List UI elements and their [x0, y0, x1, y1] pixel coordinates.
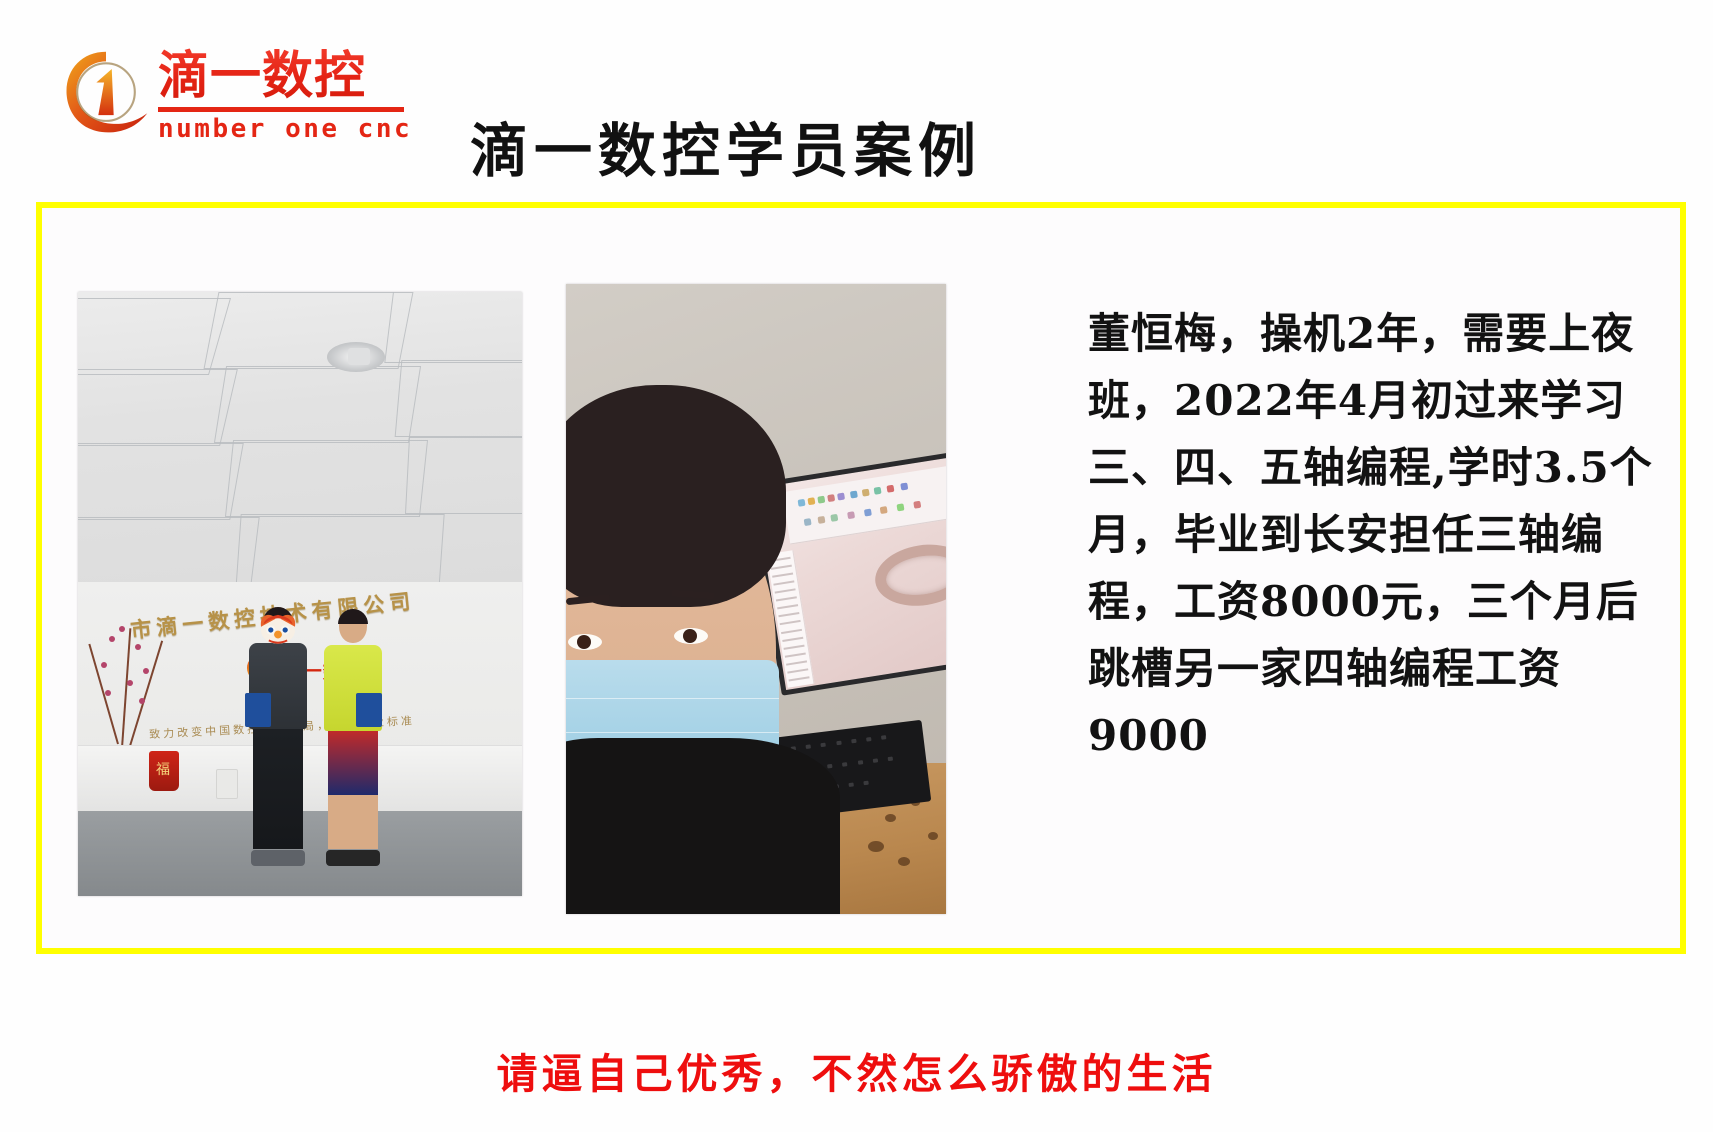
slide-root: 滴一数控 number one cnc 滴一数控学员案例 毕业照 工作照 市滴一… [0, 0, 1713, 1132]
decor-plant [91, 618, 169, 748]
small-vase [216, 769, 238, 799]
red-vase [149, 751, 179, 791]
page-title: 滴一数控学员案例 [470, 104, 1170, 188]
brand-name-en: number one cnc [158, 114, 404, 144]
brand-wordmark: 滴一数控 number one cnc [158, 48, 404, 144]
student-torso [566, 738, 840, 914]
ceiling-light-icon [327, 342, 385, 372]
ceiling [78, 292, 522, 588]
droplet-one-circle-icon [58, 46, 154, 142]
lion-mask-sticker-icon [258, 611, 298, 645]
student-figure-left [247, 607, 309, 866]
testimonial-text: 董恒梅，操机2年，需要上夜班，2022年4月初过来学习三、四、五轴编程,学时3.… [1088, 300, 1666, 769]
graduation-photo[interactable]: 市滴一数控技术有限公司 滴一数控 致力改变中国数控行业格局，引领行业标准 [78, 292, 522, 896]
ring-part-3d-model [871, 537, 946, 611]
brand-divider [158, 107, 404, 112]
footer-slogan: 请逼自己优秀，不然怎么骄傲的生活 [0, 1040, 1713, 1100]
brand-logo: 滴一数控 number one cnc [58, 44, 408, 144]
cad-ribbon-toolbar [782, 466, 946, 545]
work-photo[interactable] [566, 284, 946, 914]
brand-name-cn: 滴一数控 [158, 48, 404, 106]
student-figure-right [322, 609, 384, 866]
